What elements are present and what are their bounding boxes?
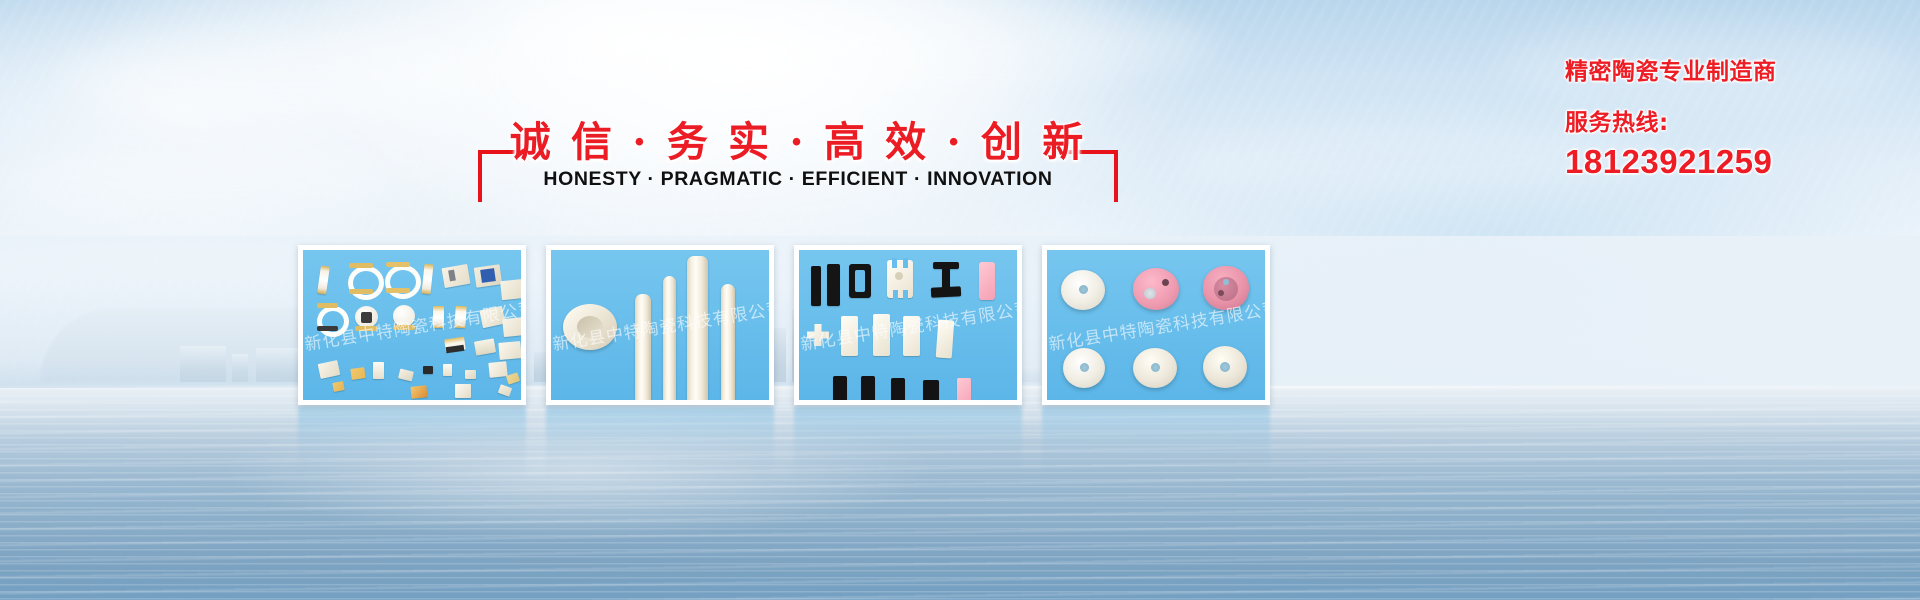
ceramic-part-black xyxy=(861,376,875,400)
disc-center-hole xyxy=(1080,363,1089,372)
ceramic-part xyxy=(498,384,512,397)
ceramic-part-black xyxy=(833,376,847,400)
ceramic-part xyxy=(373,362,384,379)
product-panel-3-image: 新化县中特陶瓷科技有限公司 xyxy=(799,250,1017,400)
ceramic-part xyxy=(465,370,476,379)
ceramic-block-white xyxy=(936,319,955,358)
panel-reflection xyxy=(298,407,526,479)
ceramic-disc-white xyxy=(1061,270,1105,310)
ceramic-part xyxy=(348,266,384,300)
disc-center-hole xyxy=(1079,285,1088,294)
product-panel-2[interactable]: 新化县中特陶瓷科技有限公司 xyxy=(546,245,774,405)
ceramic-part xyxy=(433,306,444,328)
ceramic-part xyxy=(317,306,349,337)
ceramic-part xyxy=(446,345,465,353)
ceramic-part xyxy=(317,326,338,331)
ceramic-part xyxy=(506,372,520,384)
panel-reflection xyxy=(1042,407,1270,479)
panel-reflection xyxy=(546,407,774,479)
nozzle-hole xyxy=(1218,290,1224,296)
ceramic-rod xyxy=(663,276,676,400)
ceramic-rod xyxy=(721,284,735,400)
ceramic-part xyxy=(479,306,505,328)
product-panel-1[interactable]: 新化县中特陶瓷科技有限公司 xyxy=(298,245,526,405)
ceramic-part xyxy=(349,289,373,294)
ceramic-part-black xyxy=(891,378,905,400)
ceramic-part xyxy=(502,317,521,337)
product-panel-3[interactable]: 新化县中特陶瓷科技有限公司 xyxy=(794,245,1022,405)
disc-center-hole xyxy=(1220,362,1230,372)
ceramic-part xyxy=(355,326,377,331)
ceramic-part-black xyxy=(942,267,950,289)
ceramic-part xyxy=(386,288,410,293)
ceramic-part-hole xyxy=(895,272,903,280)
ceramic-part xyxy=(361,312,372,323)
ceramic-part xyxy=(455,384,471,398)
ceramic-disc-white xyxy=(1203,346,1247,388)
ceramic-part xyxy=(398,368,414,381)
ceramic-part-pink xyxy=(979,262,995,300)
disc-hole xyxy=(1162,279,1169,286)
ceramic-nozzle-pink xyxy=(1203,266,1249,310)
ceramic-part-notch xyxy=(893,290,898,300)
ceramic-cross xyxy=(807,324,829,346)
panel-reflection xyxy=(794,407,1022,479)
ceramic-part-black xyxy=(827,264,840,306)
ceramic-rod xyxy=(635,294,651,400)
ceramic-part xyxy=(423,366,433,374)
ceramic-block-white xyxy=(873,314,890,356)
ceramic-clip-slot xyxy=(855,270,865,292)
disc-hole xyxy=(1144,288,1156,299)
ceramic-part xyxy=(454,306,467,329)
ceramic-disc-white xyxy=(1133,348,1177,388)
product-panel-1-image: 新化县中特陶瓷科技有限公司 xyxy=(303,250,521,400)
ceramic-part xyxy=(441,264,470,288)
ceramic-block-white xyxy=(903,316,920,356)
ceramic-part xyxy=(474,338,496,355)
ceramic-part xyxy=(317,266,330,295)
ceramic-part-black xyxy=(923,380,939,400)
ceramic-part-pink xyxy=(957,378,971,400)
ceramic-part xyxy=(386,262,410,267)
ceramic-part xyxy=(317,303,338,308)
product-panel-2-image: 新化县中特陶瓷科技有限公司 xyxy=(551,250,769,400)
ceramic-part xyxy=(443,364,452,376)
ceramic-rod xyxy=(687,256,708,400)
ceramic-part xyxy=(488,361,507,378)
ceramic-part xyxy=(498,341,521,360)
ceramic-part-notch xyxy=(892,258,897,268)
ceramic-part xyxy=(349,263,373,268)
ceramic-tube xyxy=(563,304,617,350)
ceramic-part xyxy=(332,381,344,392)
hero-banner: 诚 信 · 务 实 · 高 效 · 创 新 HONESTY · PRAGMATI… xyxy=(0,0,1920,600)
ceramic-part xyxy=(500,279,521,300)
product-panel-row: 新化县中特陶瓷科技有限公司 新化县中特陶瓷科技有限公司 xyxy=(0,0,1920,600)
ceramic-part-black xyxy=(931,286,961,298)
tube-bore xyxy=(577,316,603,338)
ceramic-part xyxy=(350,367,365,380)
ceramic-part xyxy=(385,265,421,299)
ceramic-part xyxy=(410,385,427,399)
product-panel-4[interactable]: 新化县中特陶瓷科技有限公司 xyxy=(1042,245,1270,405)
ceramic-disc-pink xyxy=(1133,268,1179,310)
ceramic-part xyxy=(393,325,415,330)
disc-center-hole xyxy=(1151,363,1160,372)
ceramic-block-white xyxy=(841,316,858,356)
nozzle-hole xyxy=(1223,279,1229,285)
ceramic-part-notch xyxy=(903,290,908,300)
ceramic-part xyxy=(421,264,433,295)
ceramic-part xyxy=(318,360,341,379)
product-panel-4-image: 新化县中特陶瓷科技有限公司 xyxy=(1047,250,1265,400)
ceramic-part-notch xyxy=(903,258,908,268)
ceramic-part-black xyxy=(811,266,821,306)
ceramic-part xyxy=(393,305,415,327)
ceramic-part xyxy=(480,268,496,283)
ceramic-disc-white xyxy=(1063,348,1105,388)
